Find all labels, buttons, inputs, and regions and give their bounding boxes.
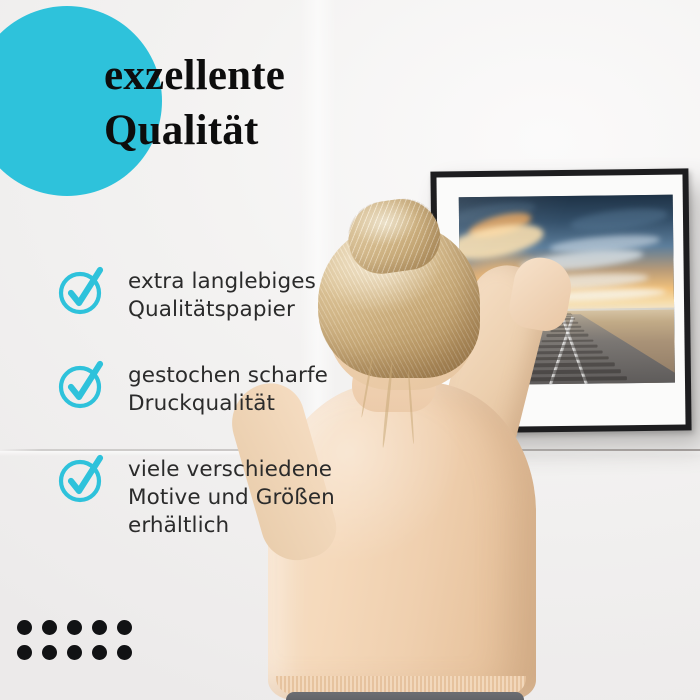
dot-grid-row — [12, 640, 137, 665]
list-item-label: gestochen scharfe Druckqualität — [108, 358, 328, 418]
list-item-line-2: Druckqualität — [128, 391, 275, 416]
list-item-label: extra langlebiges Qualitätspapier — [108, 264, 316, 324]
list-item: viele verschiedene Motive und Größen erh… — [56, 452, 386, 540]
dot — [67, 620, 82, 635]
list-item-line-2: Motive und Größen — [128, 485, 335, 510]
dot — [42, 620, 57, 635]
check-circle-icon — [56, 360, 108, 412]
dot — [17, 645, 32, 660]
list-item: extra langlebiges Qualitätspapier — [56, 264, 386, 324]
check-circle-icon — [56, 454, 108, 506]
list-item-label: viele verschiedene Motive und Größen erh… — [108, 452, 335, 540]
list-item-line-2: Qualitätspapier — [128, 297, 295, 322]
dot — [67, 645, 82, 660]
dot — [117, 645, 132, 660]
feature-list: extra langlebiges Qualitätspapier gestoc… — [56, 264, 386, 574]
list-item-line-1: viele verschiedene — [128, 457, 332, 482]
dot — [117, 620, 132, 635]
dot — [92, 645, 107, 660]
dot — [42, 645, 57, 660]
page-title: exzellente Qualität — [104, 48, 404, 158]
grey-trousers — [286, 692, 524, 700]
right-hand — [506, 254, 576, 335]
check-circle-icon — [56, 266, 108, 318]
headline-line-1: exzellente — [104, 52, 285, 99]
promo-banner: exzellente Qualität extra langlebiges Qu… — [0, 0, 700, 700]
headline-line-2: Qualität — [104, 103, 404, 158]
list-item: gestochen scharfe Druckqualität — [56, 358, 386, 418]
dot — [17, 620, 32, 635]
list-item-line-1: extra langlebiges — [128, 269, 316, 294]
list-item-line-3: erhältlich — [128, 513, 229, 538]
list-item-line-1: gestochen scharfe — [128, 363, 328, 388]
dot — [92, 620, 107, 635]
dot-grid — [12, 615, 137, 665]
dot-grid-row — [12, 615, 137, 640]
